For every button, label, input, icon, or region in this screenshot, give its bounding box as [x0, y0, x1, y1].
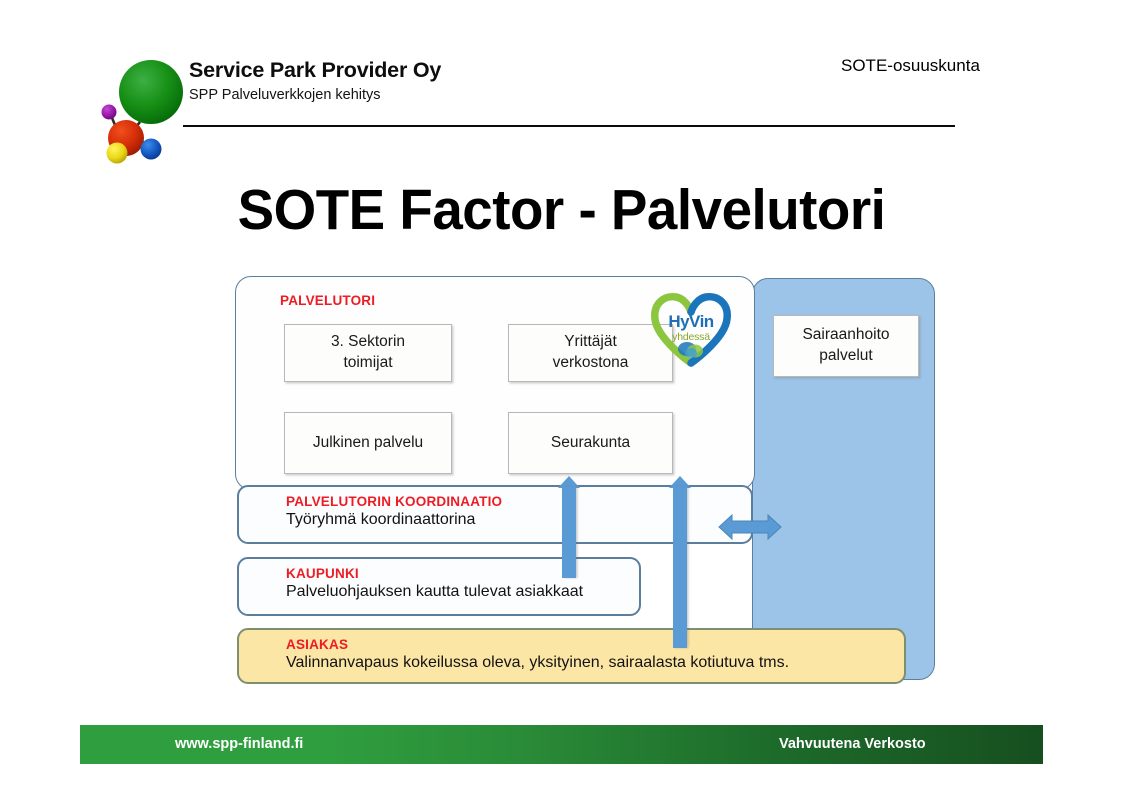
footer-bar: www.spp-finland.fi Vahvuutena Verkosto	[80, 725, 1043, 764]
band-kaupunki[interactable]: KAUPUNKI Palveluohjauksen kautta tulevat…	[237, 557, 641, 616]
section-label-palvelutori: PALVELUTORI	[280, 293, 375, 308]
double-arrow-to-hospital	[718, 510, 782, 544]
page-title: SOTE Factor - Palvelutori	[22, 177, 1100, 243]
footer-website-link[interactable]: www.spp-finland.fi	[175, 736, 303, 752]
box-seurakunta[interactable]: Seurakunta	[508, 412, 673, 474]
box-line-1: 3. Sektorin	[331, 333, 405, 350]
arrow-shaft	[673, 487, 687, 648]
palvelutori-diagram: Sairaanhoito palvelut PALVELUTORI 3. Sek…	[235, 272, 941, 686]
hyvin-heart-logo: HyVin yhdessä	[649, 291, 733, 369]
box-line-2: palvelut	[819, 347, 872, 364]
molecule-logo-icon	[95, 50, 187, 166]
slide: Service Park Provider Oy SPP Palveluverk…	[0, 0, 1123, 794]
box-julkinen-palvelu[interactable]: Julkinen palvelu	[284, 412, 452, 474]
hyvin-tagline: yhdessä	[649, 331, 733, 343]
box-3-sektorin-toimijat[interactable]: 3. Sektorin toimijat	[284, 324, 452, 382]
band-body-asiakas: Valinnanvapaus kokeilussa oleva, yksityi…	[286, 654, 904, 672]
hyvin-wordmark: HyVin	[649, 312, 733, 332]
arrow-up-from-asiakas	[669, 476, 691, 648]
box-line-1: Julkinen palvelu	[313, 433, 423, 454]
band-asiakas[interactable]: ASIAKAS Valinnanvapaus kokeilussa oleva,…	[237, 628, 906, 684]
box-line-2: toimijat	[343, 354, 392, 371]
brand-text-block: Service Park Provider Oy SPP Palveluverk…	[189, 58, 441, 103]
band-body-kaupunki: Palveluohjauksen kautta tulevat asiakkaa…	[286, 583, 639, 601]
box-sairaanhoito-palvelut[interactable]: Sairaanhoito palvelut	[773, 315, 919, 377]
box-line-1: Yrittäjät	[564, 333, 617, 350]
cooperative-label: SOTE-osuuskunta	[841, 56, 980, 76]
header-divider	[183, 125, 955, 127]
box-line-1: Sairaanhoito	[802, 326, 889, 343]
brand-subtitle: SPP Palveluverkkojen kehitys	[189, 87, 441, 103]
footer-tagline: Vahvuutena Verkosto	[779, 736, 926, 752]
section-label-asiakas: ASIAKAS	[286, 637, 904, 652]
hospital-services-panel: Sairaanhoito palvelut	[752, 278, 935, 680]
section-label-kaupunki: KAUPUNKI	[286, 566, 639, 581]
brand-title: Service Park Provider Oy	[189, 58, 441, 83]
box-line-2: verkostona	[553, 354, 629, 371]
arrow-up-from-kaupunki	[558, 476, 580, 578]
arrow-shaft	[562, 487, 576, 578]
box-line-1: Seurakunta	[551, 433, 630, 454]
palvelutori-panel: PALVELUTORI 3. Sektorin toimijat Yrittäj…	[235, 276, 755, 490]
